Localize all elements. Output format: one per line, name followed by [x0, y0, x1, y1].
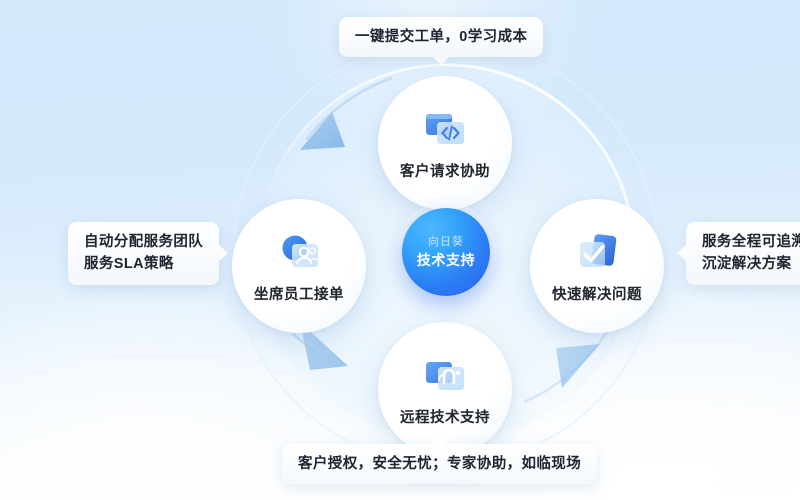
code-window-icon	[419, 105, 471, 153]
node-label: 快速解决问题	[552, 283, 642, 304]
callout-right: 服务全程可追溯 沉淀解决方案	[686, 222, 800, 285]
callout-top-text: 一键提交工单，0学习成本	[355, 26, 527, 48]
center-hub[interactable]: 向日葵 技术支持	[402, 208, 490, 296]
infographic-canvas: 客户请求协助 坐席员工接单	[0, 0, 800, 500]
node-label: 客户请求协助	[400, 160, 490, 181]
callout-right-line2: 沉淀解决方案	[702, 253, 800, 275]
node-label: 坐席员工接单	[254, 283, 344, 304]
callout-bottom: 客户授权，安全无忧；专家协助，如临现场	[282, 444, 597, 484]
node-label: 远程技术支持	[400, 406, 490, 427]
hub-brand-label: 向日葵	[428, 237, 464, 248]
node-customer-request[interactable]: 客户请求协助	[378, 76, 512, 210]
callout-top: 一键提交工单，0学习成本	[339, 17, 543, 57]
callout-bottom-text: 客户授权，安全无忧；专家协助，如临现场	[298, 453, 581, 475]
callout-right-line1: 服务全程可追溯	[702, 231, 800, 253]
callout-left: 自动分配服务团队 服务SLA策略	[68, 222, 219, 285]
node-agent-accept[interactable]: 坐席员工接单	[232, 199, 366, 333]
node-fast-resolve[interactable]: 快速解决问题	[530, 199, 664, 333]
hub-title-label: 技术支持	[417, 253, 475, 267]
check-document-icon	[571, 228, 623, 276]
callout-left-line2: 服务SLA策略	[84, 253, 203, 275]
agent-people-icon	[273, 228, 325, 276]
remote-screen-icon	[419, 351, 471, 399]
callout-left-line1: 自动分配服务团队	[84, 231, 203, 253]
